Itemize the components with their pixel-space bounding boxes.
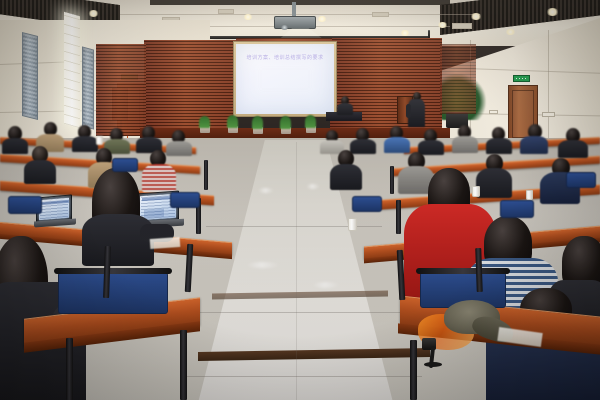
aisle-reflection-3 xyxy=(246,262,280,268)
attendee-body-r9 xyxy=(330,164,362,190)
chair-foreground-left xyxy=(58,272,168,314)
attendee-body-r4 xyxy=(418,140,444,155)
aisle-reflection-2 xyxy=(306,184,320,189)
attendee-body-l6 xyxy=(166,141,192,156)
chair-frame-foreground-right xyxy=(416,268,510,274)
paper-cup-4 xyxy=(96,136,103,145)
presenter-arm xyxy=(406,104,411,118)
stage-plant-leaf-2 xyxy=(227,115,238,128)
wall-outlet-2 xyxy=(542,112,555,117)
wall-outlet-1 xyxy=(489,110,498,114)
attendee-body-r5 xyxy=(452,136,478,153)
attendee-body-r6 xyxy=(486,138,512,154)
papers-on-desk-left xyxy=(150,237,181,249)
laptop-2-screen-block xyxy=(144,209,164,218)
wood-slat-wall-far-left xyxy=(96,44,146,136)
stage-plant-leaf-3 xyxy=(252,116,263,129)
window-blind-1 xyxy=(22,32,38,120)
slide-title-line1: 培训方案、培训总结撰写的要求 xyxy=(244,55,326,62)
desk-leg-l4 xyxy=(204,160,208,190)
chair-left-mid-3 xyxy=(170,192,200,208)
desk-leg-r3 xyxy=(396,200,401,234)
laptop-1-screen xyxy=(39,198,69,221)
stage-plant-leaf-4 xyxy=(280,116,291,129)
downlight-9 xyxy=(470,13,482,20)
stage-plant-leaf-5 xyxy=(305,115,316,128)
window-blind-2 xyxy=(82,46,94,129)
desk-leg-fr-1 xyxy=(410,340,417,400)
floor-tile-line-3 xyxy=(186,376,422,377)
attendee-body-r8 xyxy=(558,140,588,158)
desk-leg-fl-1 xyxy=(66,338,73,400)
chair-left-mid-2 xyxy=(112,158,138,172)
seated-host-body xyxy=(337,103,353,115)
desk-leg-fl-2 xyxy=(180,330,187,400)
attendee-body-r3 xyxy=(384,137,410,153)
attendee-body-r7 xyxy=(520,136,548,154)
floor-tile-line-2 xyxy=(196,312,406,313)
lecture-hall-photo: 培训方案、培训总结撰写的要求 xyxy=(0,0,600,400)
downlight-6 xyxy=(317,16,327,22)
attendee-body-l9 xyxy=(142,164,176,192)
ceiling-vent-2 xyxy=(218,9,234,14)
attendee-body-l3 xyxy=(72,136,98,152)
attendee-body-l7 xyxy=(24,160,56,184)
lighting-truss-right-drop xyxy=(428,30,430,38)
wood-slat-wall-left xyxy=(144,40,236,135)
ceiling-vent-3 xyxy=(372,12,389,17)
camera-strap-loop xyxy=(424,362,442,367)
paper-cup-3 xyxy=(526,190,533,200)
attendee-body-l1 xyxy=(2,138,28,154)
ceiling-strip-center xyxy=(150,0,450,5)
chair-frame-foreground-left xyxy=(54,268,172,274)
wood-slat-wall-right xyxy=(330,38,442,136)
paper-cup-2 xyxy=(472,186,480,197)
desk-leg-r4 xyxy=(390,166,394,194)
ceiling-tile-line-1 xyxy=(120,14,480,15)
aisle-reflection-1 xyxy=(258,188,274,193)
chair-right-mid-1 xyxy=(352,196,382,212)
attendee-body-r2 xyxy=(350,139,376,154)
downlight-2 xyxy=(88,10,99,17)
chair-left-mid-1 xyxy=(8,196,42,214)
chair-right-mid-2 xyxy=(500,200,534,218)
ceiling-vent-4 xyxy=(452,23,472,29)
aisle-reflection-4 xyxy=(312,282,340,288)
stage-plant-leaf-1 xyxy=(199,116,210,128)
attendee-body-r11 xyxy=(476,168,512,198)
downlight-10 xyxy=(505,29,516,35)
downlight-5 xyxy=(243,14,253,20)
exit-sign-right-icon xyxy=(513,75,530,82)
downlight-8 xyxy=(437,22,448,28)
bright-window xyxy=(64,12,80,129)
paper-cup-1 xyxy=(348,218,357,231)
wood-slat-wall-far-right xyxy=(440,44,476,114)
floor-tile-line-v xyxy=(296,142,297,400)
projection-screen: 培训方案、培训总结撰写的要求 xyxy=(236,44,334,114)
downlight-11 xyxy=(546,8,559,16)
chair-right-mid-3 xyxy=(566,172,596,188)
projector-lens xyxy=(281,25,288,30)
